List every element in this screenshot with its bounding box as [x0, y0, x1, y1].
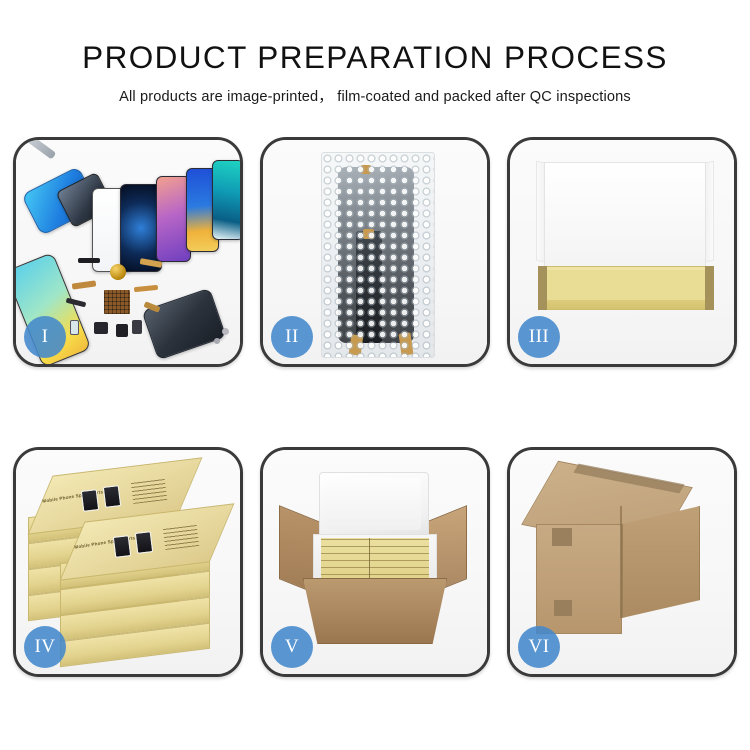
step-badge-5: V: [271, 626, 313, 668]
camera-module-icon: [94, 322, 108, 334]
tweezers-icon: [18, 140, 57, 160]
process-step-panel-4[interactable]: Mobile Phone Spare Parts Mobile Phone Sp…: [13, 447, 243, 677]
box-art-thumbnail-icon: [81, 489, 99, 512]
process-step-panel-6[interactable]: VI: [507, 447, 737, 677]
process-step-panel-3[interactable]: III: [507, 137, 737, 367]
product-preparation-infographic: PRODUCT PREPARATION PROCESS All products…: [0, 0, 750, 750]
antenna-strip-icon: [78, 258, 100, 263]
teal-display-screen-icon: [212, 160, 240, 240]
process-step-panel-2[interactable]: II: [260, 137, 490, 367]
battery-connector-icon: [132, 320, 142, 334]
page-subtitle: All products are image-printed， film-coa…: [0, 74, 750, 106]
process-step-panel-5[interactable]: V: [260, 447, 490, 677]
carton-tape-tab-icon: [552, 528, 572, 546]
phone-rear-housing-icon: [141, 288, 226, 361]
process-step-grid: I II: [13, 137, 737, 677]
sim-tray-icon: [70, 320, 79, 335]
box-art-thumbnail-icon: [135, 531, 153, 554]
box-art-thumbnail-icon: [113, 535, 131, 558]
box-art-thumbnail-icon: [103, 485, 121, 508]
carton-side-face-icon: [622, 506, 700, 618]
gold-speaker-icon: [110, 264, 126, 280]
screw-icon: [222, 328, 229, 335]
chip-array-icon: [104, 290, 130, 314]
packed-retail-boxes-icon: [321, 538, 429, 582]
header: PRODUCT PREPARATION PROCESS All products…: [0, 0, 750, 106]
flex-cable-icon: [134, 285, 158, 292]
process-step-panel-1[interactable]: I: [13, 137, 243, 367]
box-spec-text-icon: [131, 478, 167, 504]
step-badge-3: III: [518, 316, 560, 358]
box-edge-left-icon: [538, 266, 547, 310]
camera-module-icon: [116, 324, 128, 337]
bubble-texture-icon: [322, 153, 434, 357]
step-badge-2: II: [271, 316, 313, 358]
flex-cable-icon: [72, 280, 97, 289]
screw-icon: [214, 338, 220, 344]
carton-edge-seam-icon: [620, 506, 622, 618]
box-edge-right-icon: [705, 266, 714, 310]
step-badge-1: I: [24, 316, 66, 358]
box-spec-text-icon: [163, 524, 199, 550]
carton-tape-tab-icon: [554, 600, 572, 616]
carton-front-face-icon: [536, 524, 622, 634]
bubble-wrap-bag-icon: [321, 152, 435, 358]
step-badge-6: VI: [518, 626, 560, 668]
page-title: PRODUCT PREPARATION PROCESS: [0, 0, 750, 74]
box-back-wall-icon: [544, 162, 706, 276]
step-badge-4: IV: [24, 626, 66, 668]
foam-lid-inner-icon: [327, 478, 421, 530]
carton-body-icon: [303, 578, 447, 644]
box-front-inner-icon: [544, 270, 706, 300]
